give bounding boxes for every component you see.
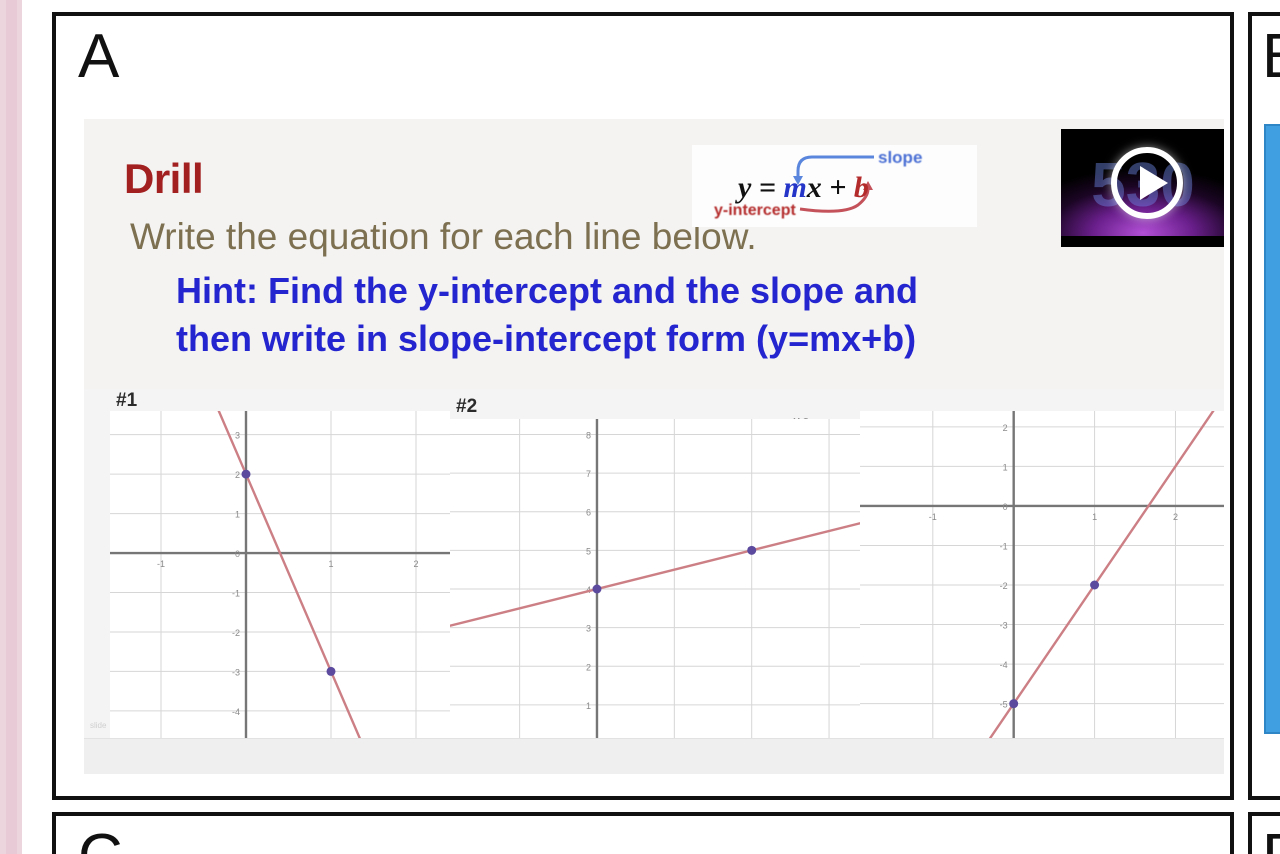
slide-footer-band	[84, 738, 1224, 774]
svg-text:-2: -2	[232, 628, 240, 638]
svg-text:2: 2	[586, 662, 591, 672]
svg-text:8: 8	[586, 430, 591, 440]
svg-text:1: 1	[1092, 512, 1097, 522]
left-gutter	[22, 0, 52, 854]
equation-m: m	[783, 171, 806, 204]
video-letterbox-bottom	[1061, 236, 1224, 247]
graph-1-svg: 3210-1-2-3-4-5-112	[110, 411, 450, 774]
slope-intercept-equation-inset: slope y-intercept y = mx + b	[692, 145, 977, 227]
hint-text-line-1: Hint: Find the y-intercept and the slope…	[176, 271, 918, 311]
svg-text:-3: -3	[232, 667, 240, 677]
svg-text:2: 2	[1003, 423, 1008, 433]
svg-text:3: 3	[586, 624, 591, 634]
slide-image[interactable]: Drill Write the equation for each line b…	[84, 119, 1224, 774]
svg-text:2: 2	[1173, 512, 1178, 522]
svg-text:1: 1	[1003, 462, 1008, 472]
svg-text:1: 1	[235, 510, 240, 520]
graph-3[interactable]: 210-1-2-3-4-5-6-112	[860, 411, 1224, 759]
svg-text:2: 2	[235, 470, 240, 480]
svg-text:6: 6	[586, 508, 591, 518]
panel-a[interactable]: A Drill Write the equation for each line…	[52, 12, 1234, 800]
panel-d-letter: D	[1262, 826, 1280, 854]
equation-text: y = mx + b	[738, 173, 869, 203]
instruction-text: Write the equation for each line below.	[130, 217, 757, 257]
svg-text:5: 5	[586, 546, 591, 556]
svg-text:3: 3	[235, 431, 240, 441]
svg-text:7: 7	[586, 469, 591, 479]
slide-watermark: slide	[90, 721, 106, 730]
svg-text:1: 1	[586, 701, 591, 711]
svg-text:2: 2	[413, 559, 418, 569]
svg-text:-3: -3	[1000, 621, 1008, 631]
play-triangle-icon[interactable]	[1140, 166, 1168, 200]
video-thumbnail[interactable]: 530	[1061, 129, 1224, 247]
slope-label: slope	[878, 149, 922, 166]
graph-2-svg: 876543210-1123	[450, 419, 860, 759]
svg-text:-5: -5	[1000, 700, 1008, 710]
graph-3-svg: 210-1-2-3-4-5-6-112	[860, 411, 1224, 759]
equation-x: x	[807, 171, 822, 204]
svg-text:-1: -1	[157, 559, 165, 569]
svg-text:-4: -4	[232, 707, 240, 717]
graph-label-2: #2	[456, 397, 477, 416]
graph-2[interactable]: 876543210-1123	[450, 419, 860, 759]
panel-c[interactable]: C	[52, 812, 1234, 854]
left-edge-rail	[0, 0, 22, 854]
svg-text:0: 0	[235, 549, 240, 559]
panel-b-content-block[interactable]	[1264, 124, 1280, 734]
page-root: A Drill Write the equation for each line…	[0, 0, 1280, 854]
yintercept-label: y-intercept	[714, 203, 796, 219]
equation-equals: =	[759, 171, 776, 204]
svg-text:0: 0	[1003, 502, 1008, 512]
left-edge-rail-stripe	[6, 0, 17, 854]
video-letterbox-top	[1061, 129, 1224, 140]
equation-b: b	[854, 171, 869, 204]
panel-a-letter: A	[78, 26, 120, 88]
svg-text:-4: -4	[1000, 660, 1008, 670]
hint-text-line-2: then write in slope-intercept form (y=mx…	[176, 319, 916, 359]
svg-text:-1: -1	[929, 512, 937, 522]
panel-b[interactable]: B	[1248, 12, 1280, 800]
equation-y: y	[738, 171, 751, 204]
graph-label-1: #1	[116, 391, 137, 410]
svg-text:-1: -1	[232, 589, 240, 599]
svg-text:-2: -2	[1000, 581, 1008, 591]
svg-text:1: 1	[328, 559, 333, 569]
panel-c-letter: C	[78, 826, 123, 854]
equation-plus: +	[829, 171, 846, 204]
svg-text:-1: -1	[1000, 541, 1008, 551]
graph-1[interactable]: 3210-1-2-3-4-5-112	[110, 411, 450, 774]
drill-title: Drill	[124, 157, 203, 201]
panel-d[interactable]: D	[1248, 812, 1280, 854]
panel-b-letter: B	[1262, 26, 1280, 88]
